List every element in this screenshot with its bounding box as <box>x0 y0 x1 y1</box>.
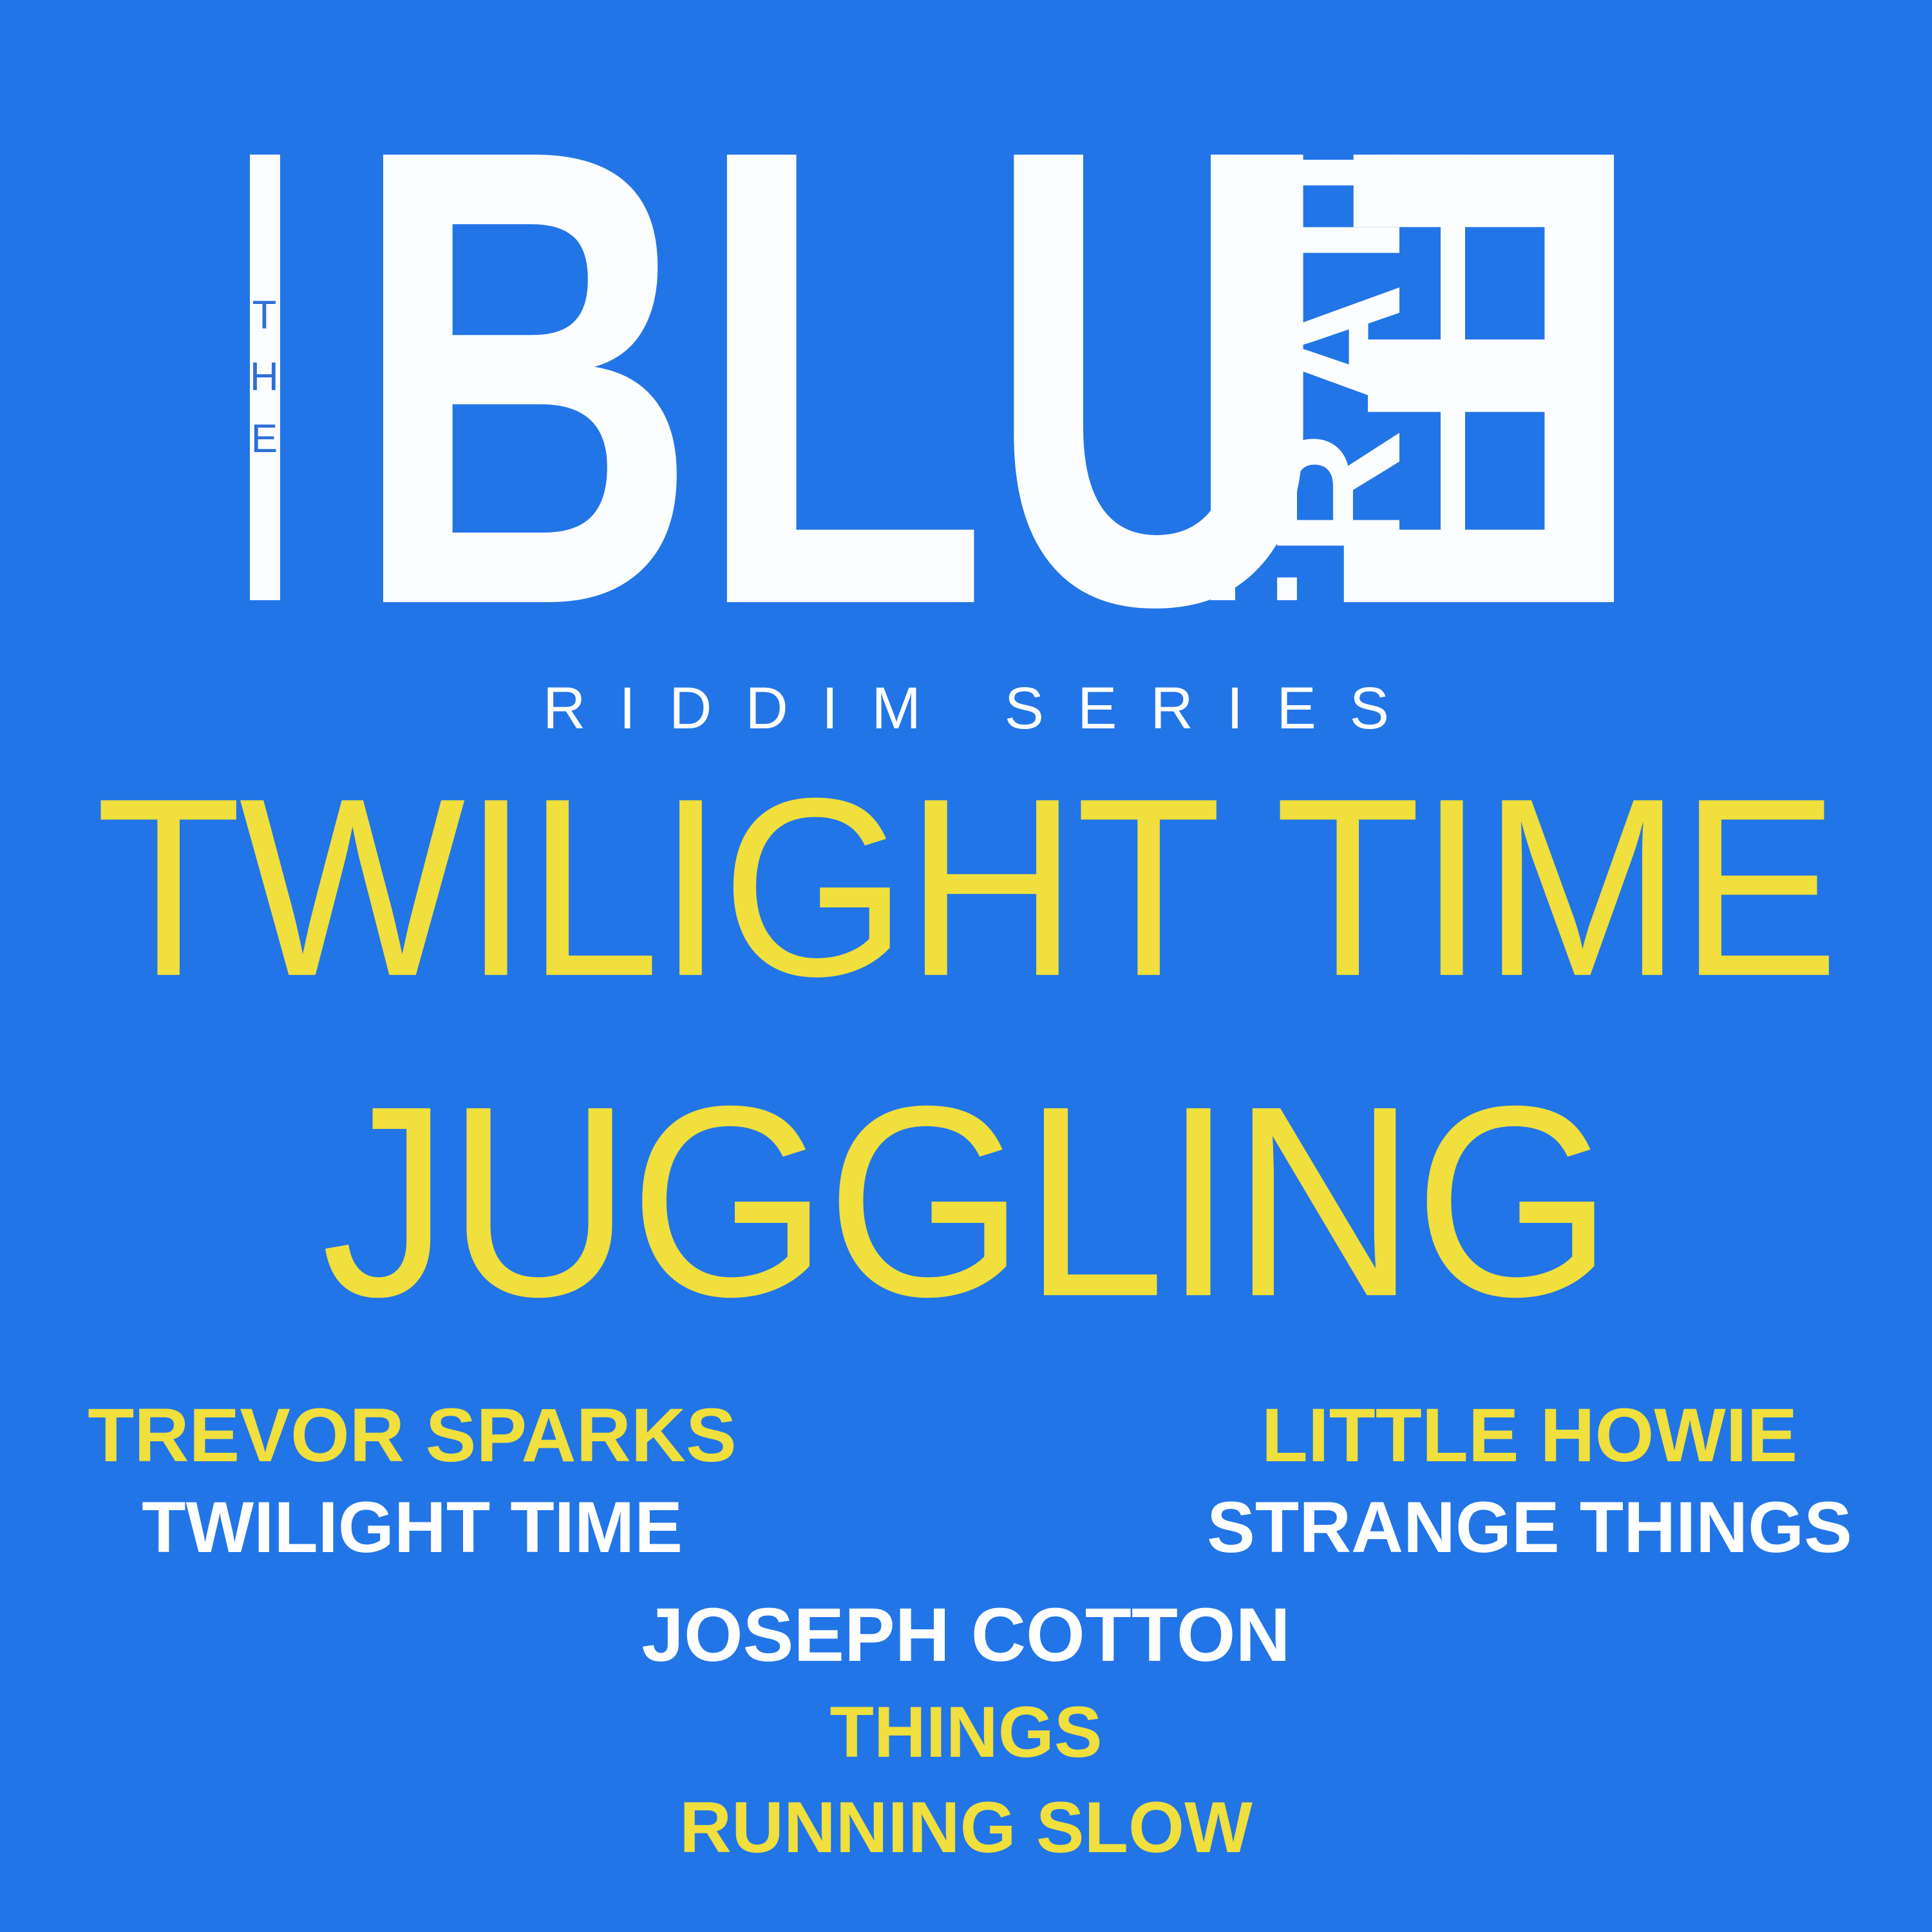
logo-trail-rule-right <box>1441 155 1465 600</box>
series-subtitle: RIDDIM SERIES <box>0 675 1932 743</box>
logo-the-letter-e: E <box>251 408 279 470</box>
logo-the-box: T H E <box>250 155 280 600</box>
credit-center-track-1: THINGS <box>0 1696 1932 1768</box>
logo-trail-wordmark: TRAIL <box>1249 155 1427 600</box>
logo-trail-center: TRAIL <box>1235 155 1441 600</box>
logo-blue-letter-l: L <box>695 155 985 600</box>
credit-left-track: TWILIGHT TIME <box>71 1492 753 1564</box>
credit-block-left: TREVOR SPARKS TWILIGHT TIME <box>71 1397 753 1564</box>
credit-left-artist: TREVOR SPARKS <box>71 1397 753 1473</box>
album-title-line-1: TWILIGHT TIME <box>0 760 1932 1014</box>
album-cover-canvas: { "colors": { "background_blue": "#2275E… <box>0 0 1932 1932</box>
album-title-line-2: JUGGLING <box>0 1066 1932 1338</box>
credit-right-track: STRANGE THINGS <box>1185 1492 1874 1564</box>
logo-trail-rule-left <box>1211 155 1235 600</box>
record-label-logo: T H E BLUE TRAIL L A B E L <box>250 155 1689 600</box>
logo-the-letter-t: T <box>252 285 278 346</box>
logo-blue-letter-b: B <box>351 155 695 600</box>
credit-right-artist: LITTLE HOWIE <box>1185 1397 1874 1473</box>
logo-trail-group: TRAIL <box>1211 155 1465 600</box>
credit-center-artist: JOSEPH COTTON <box>0 1597 1932 1673</box>
credit-center-track-2: RUNNING SLOW <box>0 1792 1932 1864</box>
credit-block-right: LITTLE HOWIE STRANGE THINGS <box>1185 1397 1874 1564</box>
logo-the-letter-h: H <box>250 346 280 408</box>
credit-block-center: JOSEPH COTTON THINGS RUNNING SLOW <box>0 1597 1932 1864</box>
